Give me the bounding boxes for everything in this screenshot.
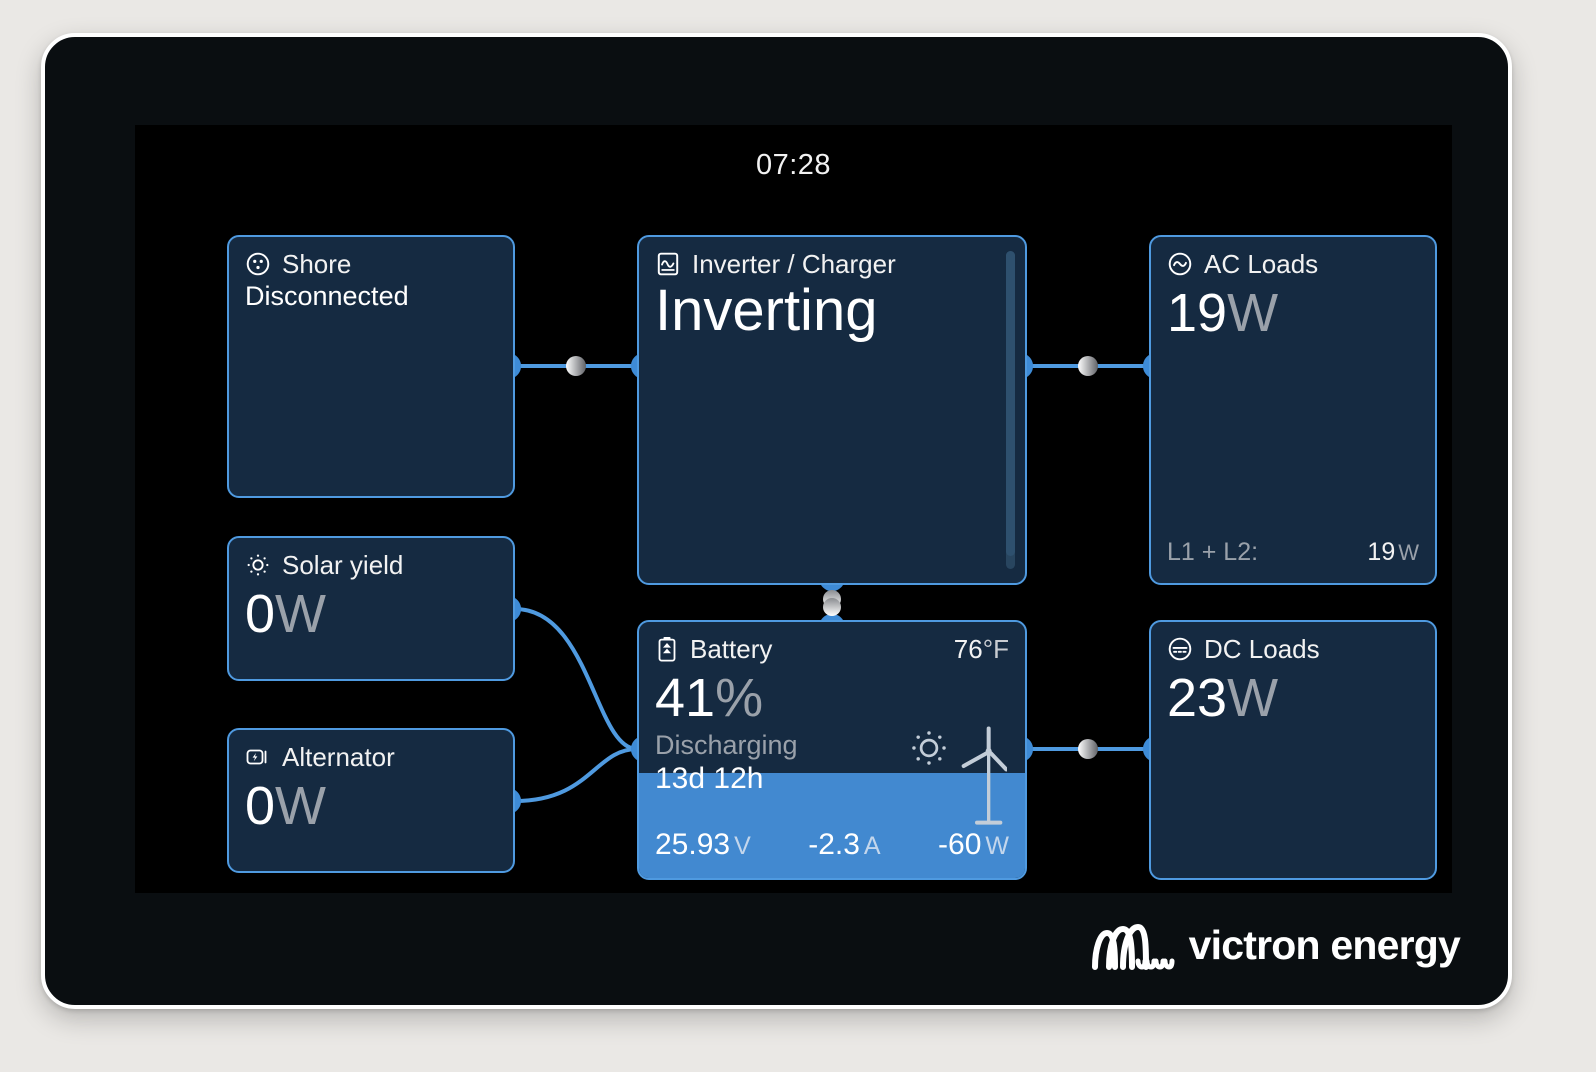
card-battery-soc-row: 41% — [639, 664, 1025, 728]
card-shore-title: Shore — [282, 250, 351, 279]
victron-waves-logo — [1089, 919, 1175, 971]
battery-current-unit: A — [864, 832, 881, 860]
battery-voltage: 25.93V — [655, 828, 751, 862]
battery-power-value: -60 — [938, 828, 981, 861]
card-acloads-title: AC Loads — [1204, 250, 1318, 279]
battery-time-remaining: 13d 12h — [639, 762, 1025, 795]
inverter-scrollbar[interactable] — [1006, 251, 1015, 569]
card-alternator-value: 0 — [245, 776, 275, 836]
battery-temperature: 76°F — [954, 635, 1009, 664]
card-solar-header: Solar yield — [229, 538, 513, 580]
battery-voltage-value: 25.93 — [655, 828, 730, 861]
wire-shore-to-inverter — [515, 355, 637, 377]
card-battery-title: Battery — [690, 635, 772, 664]
card-dcloads-title: DC Loads — [1204, 635, 1320, 664]
card-acloads-footer-label: L1 + L2: — [1167, 538, 1258, 567]
card-alternator-unit: W — [275, 776, 326, 836]
card-alternator-value-row: 0W — [229, 772, 513, 836]
battery-power: -60W — [938, 828, 1009, 862]
card-battery[interactable]: Battery 76°F 41% Discharging 13d 12h 25.… — [637, 620, 1027, 880]
card-shore[interactable]: Shore Disconnected — [227, 235, 515, 498]
inverter-wave-icon — [655, 251, 681, 277]
wire-solar-to-battery — [515, 598, 637, 749]
card-acloads-value-row: 19W — [1151, 279, 1435, 343]
gx-touch-screen[interactable]: 07:28 Shore Disconnected — [135, 125, 1452, 893]
wire-alternator-to-battery — [515, 738, 637, 812]
battery-soc-unit: % — [715, 668, 763, 728]
card-dcloads-value-row: 23W — [1151, 664, 1435, 728]
card-battery-header: Battery 76°F — [639, 622, 1025, 664]
card-inverter-header: Inverter / Charger — [639, 237, 1025, 279]
card-acloads-footer: L1 + L2: 19W — [1151, 538, 1435, 583]
card-solar-value: 0 — [245, 584, 275, 644]
card-shore-header: Shore — [229, 237, 513, 279]
card-solar-title: Solar yield — [282, 551, 403, 580]
dc-line-circle-icon — [1167, 636, 1193, 662]
battery-soc-value: 41 — [655, 668, 715, 728]
card-acloads-unit: W — [1227, 283, 1278, 343]
inverter-scrollbar-thumb[interactable] — [1006, 251, 1015, 556]
card-dcloads-header: DC Loads — [1151, 622, 1435, 664]
battery-temperature-value: 76 — [954, 634, 983, 664]
wire-inverter-to-acloads — [1027, 355, 1149, 377]
wire-inverter-to-battery — [821, 585, 843, 620]
card-dcloads-unit: W — [1227, 668, 1278, 728]
sun-icon — [245, 552, 271, 578]
alternator-battery-bolt-icon — [245, 744, 271, 770]
battery-metrics-row: 25.93V -2.3A -60W — [639, 828, 1025, 878]
status-bar-clock: 07:28 — [135, 149, 1452, 182]
card-ac-loads[interactable]: AC Loads 19W L1 + L2: 19W — [1149, 235, 1437, 585]
device-bezel: 07:28 Shore Disconnected — [41, 33, 1512, 1009]
victron-logo: victron energy — [1089, 919, 1460, 971]
card-dc-loads[interactable]: DC Loads 23W — [1149, 620, 1437, 880]
victron-wordmark: victron energy — [1189, 922, 1460, 969]
card-shore-status: Disconnected — [229, 279, 513, 313]
shore-power-plug-icon — [245, 251, 271, 277]
card-acloads-value: 19 — [1167, 283, 1227, 343]
battery-voltage-unit: V — [734, 832, 751, 860]
card-inverter-charger[interactable]: Inverter / Charger Inverting — [637, 235, 1027, 585]
card-alternator-header: Alternator — [229, 730, 513, 772]
battery-state: Discharging — [639, 728, 1025, 762]
card-acloads-header: AC Loads — [1151, 237, 1435, 279]
card-acloads-footer-unit: W — [1398, 540, 1419, 565]
ac-wave-circle-icon — [1167, 251, 1193, 277]
battery-power-unit: W — [985, 832, 1009, 860]
card-dcloads-value: 23 — [1167, 668, 1227, 728]
card-alternator[interactable]: Alternator 0W — [227, 728, 515, 873]
card-inverter-title: Inverter / Charger — [692, 250, 896, 279]
card-solar-yield[interactable]: Solar yield 0W — [227, 536, 515, 681]
battery-temperature-unit: °F — [983, 634, 1009, 664]
card-acloads-footer-value: 19 — [1367, 538, 1395, 566]
wire-battery-to-dcloads — [1027, 738, 1149, 760]
card-solar-unit: W — [275, 584, 326, 644]
card-inverter-state: Inverting — [639, 279, 1025, 344]
card-alternator-title: Alternator — [282, 743, 395, 772]
battery-current-value: -2.3 — [808, 828, 860, 861]
battery-current: -2.3A — [808, 828, 880, 862]
battery-icon — [655, 636, 679, 662]
card-acloads-footer-value-row: 19W — [1367, 538, 1419, 567]
card-solar-value-row: 0W — [229, 580, 513, 644]
